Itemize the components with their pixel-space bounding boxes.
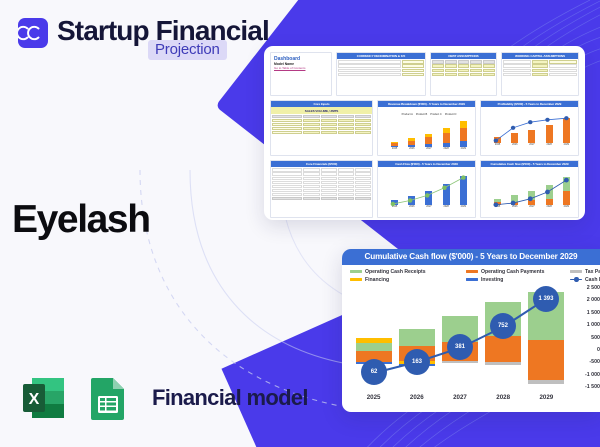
legend-item: Product C [430, 113, 442, 116]
panel-cumulative-cash-flow: Cumulative Cash flow ($'000) - 5 Years t… [480, 160, 579, 218]
google-sheets-icon [82, 372, 134, 424]
legend-swatch [466, 278, 478, 281]
formats-label: Financial model [152, 385, 308, 411]
y-tick: -500 [589, 359, 600, 365]
x-tick: 2029 [528, 394, 564, 401]
axis-tick: 2029 [461, 147, 466, 150]
legend-item-operating-cash-payments[interactable]: Operating Cash Payments [466, 269, 570, 275]
legend-swatch [350, 278, 362, 281]
y-tick: -1 500 [585, 384, 600, 390]
x-tick: 2027 [442, 394, 478, 401]
data-point-2026[interactable]: 163 [404, 349, 430, 375]
panel-debt-assumptions: DEBT ASSUMPTIONS [430, 52, 497, 96]
chart-title: Cumulative Cash flow ($'000) - 5 Years t… [342, 249, 600, 265]
legend-label: Tax Payment [585, 269, 600, 275]
legend-label: Cash balance [585, 277, 600, 283]
panel-working-capital: WORKING CAPITAL ASSUMPTIONS [501, 52, 579, 96]
legend-label: Financing [365, 277, 389, 283]
legend-swatch-line [570, 279, 582, 281]
legend-swatch [466, 270, 478, 273]
chart-legend: Operating Cash Receipts Operating Cash P… [342, 265, 600, 286]
y-tick: -1 000 [585, 372, 600, 378]
x-tick: 2026 [399, 394, 435, 401]
dashboard-heading-pane: Dashboard Model Name Go to Table of Cont… [270, 52, 332, 96]
y-tick: 2 500 [587, 285, 600, 291]
legend-item-cash-balance[interactable]: Cash balance [570, 277, 600, 283]
data-point-2027[interactable]: 381 [447, 334, 473, 360]
svg-text:X: X [29, 391, 40, 408]
data-point-2028[interactable]: 752 [490, 313, 516, 339]
x-axis-labels: 2025 2026 2027 2028 2029 [352, 394, 568, 401]
axis-tick: 2026 [409, 147, 414, 150]
legend-item-financing[interactable]: Financing [350, 277, 466, 283]
cumulative-cash-flow-card[interactable]: Cumulative Cash flow ($'000) - 5 Years t… [342, 249, 600, 412]
y-tick: 1 500 [587, 310, 600, 316]
y-tick: 500 [591, 335, 600, 341]
x-tick: 2028 [485, 394, 521, 401]
legend-item: Product A [402, 113, 413, 116]
product-name: Eyelash [12, 198, 150, 242]
dashboard-toc-link[interactable]: Go to Table of Contents [274, 66, 328, 70]
brand-lockup: Startup Financial [18, 14, 269, 48]
y-tick: 1 000 [587, 322, 600, 328]
y-axis-labels: 2 500 2 000 1 500 1 000 500 0 -500 -1 00… [570, 286, 600, 390]
panel-cash-flow: Cash Flow ($'000) - 5 Years to December … [377, 160, 476, 218]
chart-plot-area: 62 163 381 752 1 393 2 500 2 000 1 500 1… [352, 286, 568, 390]
axis-tick: 2027 [426, 147, 431, 150]
legend-item-operating-cash-receipts[interactable]: Operating Cash Receipts [350, 269, 466, 275]
axis-tick: 2025 [392, 147, 397, 150]
legend-item-investing[interactable]: Investing [466, 277, 570, 283]
promo-banner: Startup Financial Projection Eyelash X [0, 0, 600, 447]
mini-legend: Product A Product B Product C Product D [386, 113, 472, 116]
mini-bar-chart [386, 117, 472, 147]
legend-swatch [350, 270, 362, 273]
legend-item: Product D [445, 113, 457, 116]
panel-core-financials: Core Financials ($'000) [270, 160, 373, 218]
panel-profitability: Profitability ($'000) - 5 Years to Decem… [480, 100, 579, 156]
x-tick: 2025 [356, 394, 392, 401]
swirl-e-logo-icon [18, 18, 48, 48]
axis-tick: 2028 [443, 147, 448, 150]
legend-item: Product B [416, 113, 427, 116]
legend-label: Operating Cash Receipts [365, 269, 426, 275]
excel-icon: X [18, 372, 70, 424]
data-point-2029[interactable]: 1 393 [533, 286, 559, 312]
panel-core-inputs: Core Inputs SALES VOLUME, UNITS [270, 100, 373, 156]
formats-row: X Financial model [18, 372, 308, 424]
y-tick: 2 000 [587, 297, 600, 303]
legend-label: Operating Cash Payments [481, 269, 544, 275]
panel-revenue-breakdown: Revenue Breakdown ($'000) - 5 Years to D… [377, 100, 476, 156]
panel-currency-denomination: CURRENCY DENOMINATION & F/X [336, 52, 426, 96]
legend-item-tax-payment[interactable]: Tax Payment [570, 269, 600, 275]
brand-subtitle: Projection [148, 40, 227, 60]
legend-label: Investing [481, 277, 503, 283]
legend-swatch [570, 270, 582, 273]
data-point-2025[interactable]: 62 [361, 359, 387, 385]
dashboard-preview-card[interactable]: Dashboard Model Name Go to Table of Cont… [264, 46, 585, 220]
